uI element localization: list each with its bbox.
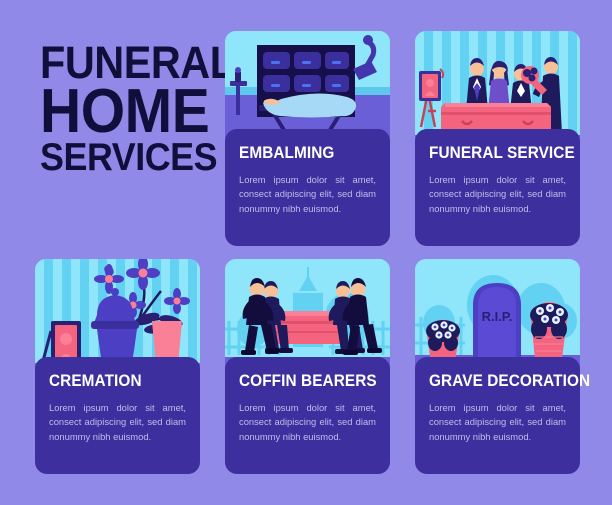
service-card-coffin-bearers[interactable]: COFFIN BEARERS Lorem ipsum dolor sit ame… (225, 259, 390, 474)
infographic-poster: FUNERAL HOME SERVICES (0, 0, 612, 505)
cremation-body: Lorem ipsum dolor sit amet, consect adip… (49, 401, 186, 445)
coffin-bearers-title: COFFIN BEARERS (239, 373, 366, 390)
embalming-title: EMBALMING (239, 145, 366, 162)
service-card-cremation[interactable]: CREMATION Lorem ipsum dolor sit amet, co… (35, 259, 200, 474)
coffin-bearers-body: Lorem ipsum dolor sit amet, consect adip… (239, 401, 376, 445)
service-card-grave-decoration[interactable]: R.I.P. (415, 259, 580, 474)
cremation-title: CREMATION (49, 373, 176, 390)
grave-decoration-body: Lorem ipsum dolor sit amet, consect adip… (429, 401, 566, 445)
cremation-panel: CREMATION Lorem ipsum dolor sit amet, co… (35, 357, 200, 474)
service-card-embalming[interactable]: EMBALMING Lorem ipsum dolor sit amet, co… (225, 31, 390, 246)
embalming-body: Lorem ipsum dolor sit amet, consect adip… (239, 173, 376, 217)
service-card-funeral-service[interactable]: FUNERAL SERVICE Lorem ipsum dolor sit am… (415, 31, 580, 246)
funeral-service-panel: FUNERAL SERVICE Lorem ipsum dolor sit am… (415, 129, 580, 246)
funeral-service-body: Lorem ipsum dolor sit amet, consect adip… (429, 173, 566, 217)
coffin-bearers-panel: COFFIN BEARERS Lorem ipsum dolor sit ame… (225, 357, 390, 474)
grave-decoration-title: GRAVE DECORATION (429, 373, 556, 390)
funeral-service-title: FUNERAL SERVICE (429, 145, 556, 162)
service-cards-grid: EMBALMING Lorem ipsum dolor sit amet, co… (35, 31, 580, 471)
grave-decoration-panel: GRAVE DECORATION Lorem ipsum dolor sit a… (415, 357, 580, 474)
tombstone-epitaph: R.I.P. (482, 309, 513, 324)
embalming-panel: EMBALMING Lorem ipsum dolor sit amet, co… (225, 129, 390, 246)
